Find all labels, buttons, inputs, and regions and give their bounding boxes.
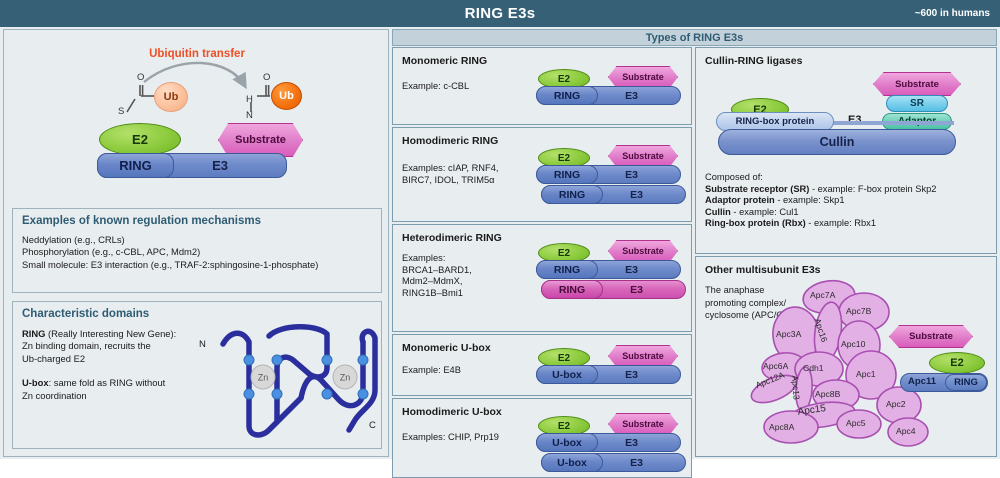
ubiquitin-amide: Ub [271, 82, 302, 110]
ring-fold-diagram-icon: Zn Zn [209, 318, 381, 440]
ring-domain: RING [97, 153, 174, 178]
panel-title: Homodimeric RING [402, 135, 498, 147]
ring-domain: RING [536, 260, 598, 279]
n-terminus-label: N [199, 339, 206, 350]
crl-component: Substrate receptor (SR) - example: F-box… [705, 184, 936, 196]
poster-root: RING E3s ~600 in humans Types of RING E3… [0, 0, 1000, 459]
ubox-definition-line2: Zn coordination [22, 390, 217, 402]
apc-subunit-label: Apc13 [790, 375, 802, 400]
substrate-shape: Substrate [608, 145, 678, 167]
ring-definition: RING (Really Interesting New Gene): [22, 328, 217, 340]
atom-sulfur-label: S [118, 106, 124, 117]
substrate-shape: Substrate [889, 325, 973, 348]
poster-header: RING E3s ~600 in humans [0, 0, 1000, 27]
panel-monomeric-ubox: Monomeric U-box Example: E4B E2 Substrat… [392, 334, 692, 396]
panel-title: Homodimeric U-box [402, 406, 502, 418]
atom-hydrogen-label: H [246, 94, 253, 105]
apc-subunit-label: Apc3A [776, 329, 801, 339]
component-term: Substrate receptor (SR) [705, 184, 809, 194]
svg-text:Zn: Zn [258, 373, 269, 383]
component-term: Ring-box protein (Rbx) [705, 218, 806, 228]
ubox-term: U-box [22, 377, 49, 388]
component-example: - example: Cul1 [731, 207, 799, 217]
apc-subunit-label: Apc8A [769, 422, 794, 432]
ring-domain: RING [945, 374, 987, 391]
ubiquitin-thioester: Ub [154, 82, 188, 112]
component-example: - example: Skp1 [775, 195, 845, 205]
ring-term-rest: (Really Interesting New Gene): [45, 328, 176, 339]
panel-examples: Examples: BRCA1–BARD1, Mdm2–MdmX, RING1B… [402, 253, 472, 299]
panel-examples: Example: c-CBL [402, 81, 469, 93]
ring-domain: RING [536, 165, 598, 184]
composed-of-label: Composed of: [705, 172, 936, 184]
apc-subunit-label: Apc10 [841, 339, 865, 349]
regulation-line: Phosphorylation (e.g., c-CBL, APC, Mdm2) [22, 246, 318, 258]
panel-monomeric-ring: Monomeric RING Example: c-CBL E2 Substra… [392, 47, 692, 125]
panel-examples: Example: E4B [402, 365, 461, 377]
panel-title: Monomeric RING [402, 55, 487, 67]
ubox-domain: U-box [541, 453, 603, 472]
crl-composition: Composed of: Substrate receptor (SR) - e… [705, 172, 936, 230]
panel-homodimeric-ring: Homodimeric RING Examples: cIAP, RNF4, B… [392, 127, 692, 222]
ring-definition-line2: Zn binding domain, recruits the [22, 340, 217, 352]
substrate-shape: Substrate [608, 345, 678, 367]
e2-enzyme: E2 [929, 352, 985, 374]
apc-subunit-label: Apc7A [810, 290, 835, 300]
ring-term: RING [22, 328, 45, 339]
regulation-line: Neddylation (e.g., CRLs) [22, 234, 318, 246]
c-terminus-label: C [369, 420, 376, 431]
substrate-receptor: SR [886, 95, 948, 112]
apc-subunit-label: Apc5 [846, 418, 866, 428]
regulation-section: Examples of known regulation mechanisms … [12, 208, 382, 293]
atom-nitrogen-label: N [246, 110, 253, 121]
ubox-domain: U-box [536, 433, 598, 452]
domains-section: Characteristic domains RING (Really Inte… [12, 301, 382, 449]
e2-enzyme: E2 [99, 123, 181, 156]
regulation-line: Small molecule: E3 interaction (e.g., TR… [22, 259, 318, 271]
panel-title: Cullin-RING ligases [705, 55, 802, 67]
ring-domain: RING [541, 185, 603, 204]
transfer-arrow-icon [4, 30, 390, 230]
ring-domain: RING [541, 280, 603, 299]
atom-oxygen-right-label: O [263, 72, 270, 83]
panel-cullin-ring-ligases: Cullin-RING ligases Substrate E2 SR Adap… [695, 47, 997, 254]
crl-component: Cullin - example: Cul1 [705, 207, 936, 219]
panel-other-multisubunit-e3s: Other multisubunit E3s The anaphase prom… [695, 256, 997, 457]
left-column: Ubiquitin transfer [3, 29, 389, 457]
panel-title: Monomeric U-box [402, 342, 491, 354]
component-term: Adaptor protein [705, 195, 775, 205]
substrate-shape: Substrate [608, 240, 678, 262]
apc-subunit-label: Cdh1 [803, 363, 824, 373]
human-count-note: ~600 in humans [915, 0, 990, 27]
types-banner: Types of RING E3s [392, 29, 997, 46]
apc-subunit-label: Apc7B [846, 306, 871, 316]
panel-homodimeric-ubox: Homodimeric U-box Examples: CHIP, Prp19 … [392, 398, 692, 478]
substrate-shape: Substrate [218, 123, 303, 157]
middle-column: Monomeric RING Example: c-CBL E2 Substra… [392, 47, 692, 457]
page-title: RING E3s [0, 0, 1000, 27]
apc-subunit-label: Apc4 [896, 426, 916, 436]
apc-subunit-label: Apc1 [856, 369, 876, 379]
panel-heterodimeric-ring: Heterodimeric RING Examples: BRCA1–BARD1… [392, 224, 692, 332]
panel-title: Heterodimeric RING [402, 232, 502, 244]
domains-heading: Characteristic domains [22, 308, 149, 320]
apc-subunit-label: Apc8B [815, 389, 840, 399]
apc11-label: Apc11 [908, 376, 936, 387]
right-column: Cullin-RING ligases Substrate E2 SR Adap… [695, 47, 997, 457]
regulation-heading: Examples of known regulation mechanisms [22, 215, 261, 227]
substrate-shape: Substrate [873, 72, 961, 96]
ubox-definition: U-box: same fold as RING without [22, 377, 217, 389]
svg-text:Zn: Zn [340, 373, 351, 383]
ring-domain: RING [536, 86, 598, 105]
component-term: Cullin [705, 207, 731, 217]
crl-component: Adaptor protein - example: Skp1 [705, 195, 936, 207]
apc-subunit-label: Apc6A [763, 361, 788, 371]
crl-component: Ring-box protein (Rbx) - example: Rbx1 [705, 218, 936, 230]
panel-examples: Examples: cIAP, RNF4, BIRC7, IDOL, TRIM5… [402, 163, 498, 186]
atom-oxygen-left-label: O [137, 72, 144, 83]
substrate-shape: Substrate [608, 413, 678, 435]
component-example: - example: Rbx1 [806, 218, 876, 228]
domains-text: RING (Really Interesting New Gene): Zn b… [22, 328, 217, 402]
spacer [22, 365, 217, 377]
cullin-scaffold: Cullin [718, 129, 956, 155]
panel-examples: Examples: CHIP, Prp19 [402, 432, 499, 444]
ubox-term-rest: : same fold as RING without [49, 377, 166, 388]
apc-subunit-label: Apc2 [886, 399, 906, 409]
ring-definition-line3: Ub-charged E2 [22, 353, 217, 365]
substrate-shape: Substrate [608, 66, 678, 88]
component-example: - example: F-box protein Skp2 [809, 184, 936, 194]
ubox-domain: U-box [536, 365, 598, 384]
regulation-lines: Neddylation (e.g., CRLs) Phosphorylation… [22, 234, 318, 271]
